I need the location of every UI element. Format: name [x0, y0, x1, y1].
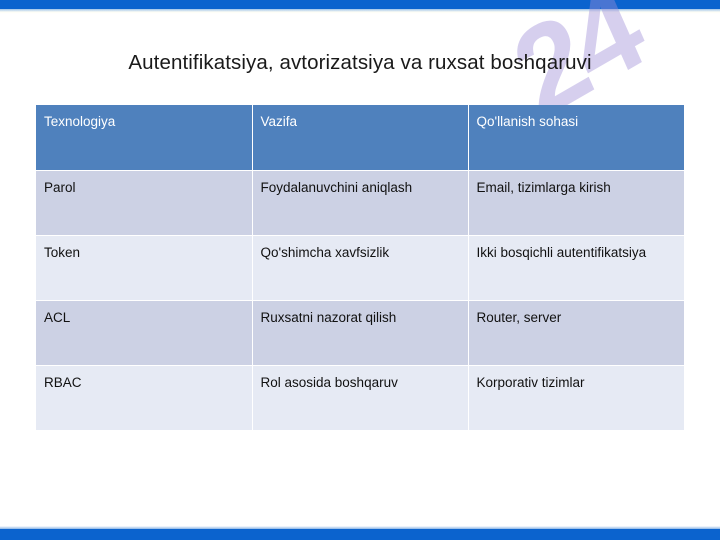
column-header-technology-label: Texnologiya — [44, 114, 244, 131]
cell-technology: Parol — [36, 170, 252, 235]
cell-technology: ACL — [36, 300, 252, 365]
cell-text: Korporativ tizimlar — [477, 375, 677, 392]
cell-technology: RBAC — [36, 365, 252, 430]
cell-text: Ruxsatni nazorat qilish — [261, 310, 460, 327]
top-accent-bar — [0, 0, 720, 9]
cell-scope: Router, server — [468, 300, 684, 365]
cell-scope: Korporativ tizimlar — [468, 365, 684, 430]
cell-scope: Email, tizimlarga kirish — [468, 170, 684, 235]
top-accent-fade — [0, 9, 720, 14]
cell-text: Qo'shimcha xavfsizlik — [261, 245, 460, 262]
cell-task: Rol asosida boshqaruv — [252, 365, 468, 430]
cell-task: Ruxsatni nazorat qilish — [252, 300, 468, 365]
table-row: RBAC Rol asosida boshqaruv Korporativ ti… — [36, 365, 684, 430]
cell-text: RBAC — [44, 375, 244, 392]
cell-scope: Ikki bosqichli autentifikatsiya — [468, 235, 684, 300]
column-header-scope: Qo'llanish sohasi — [468, 105, 684, 170]
table-row: Token Qo'shimcha xavfsizlik Ikki bosqich… — [36, 235, 684, 300]
cell-text: ACL — [44, 310, 244, 327]
column-header-scope-label: Qo'llanish sohasi — [477, 114, 677, 131]
cell-text: Token — [44, 245, 244, 262]
table-body: Parol Foydalanuvchini aniqlash Email, ti… — [36, 170, 684, 430]
cell-task: Qo'shimcha xavfsizlik — [252, 235, 468, 300]
cell-text: Router, server — [477, 310, 677, 327]
column-header-task: Vazifa — [252, 105, 468, 170]
content-table-wrapper: Texnologiya Vazifa Qo'llanish sohasi Par… — [36, 105, 684, 430]
table-header: Texnologiya Vazifa Qo'llanish sohasi — [36, 105, 684, 170]
cell-text: Rol asosida boshqaruv — [261, 375, 460, 392]
content-table: Texnologiya Vazifa Qo'llanish sohasi Par… — [36, 105, 684, 430]
column-header-technology: Texnologiya — [36, 105, 252, 170]
bottom-accent-bar — [0, 529, 720, 540]
cell-text: Ikki bosqichli autentifikatsiya — [477, 245, 677, 262]
cell-text: Email, tizimlarga kirish — [477, 180, 677, 197]
cell-text: Parol — [44, 180, 244, 197]
page-title: Autentifikatsiya, avtorizatsiya va ruxsa… — [0, 51, 720, 75]
table-row: Parol Foydalanuvchini aniqlash Email, ti… — [36, 170, 684, 235]
slide: 24 Hujjat Autentifikatsiya, avtorizatsiy… — [0, 0, 720, 540]
cell-task: Foydalanuvchini aniqlash — [252, 170, 468, 235]
cell-technology: Token — [36, 235, 252, 300]
table-row: ACL Ruxsatni nazorat qilish Router, serv… — [36, 300, 684, 365]
column-header-task-label: Vazifa — [261, 114, 460, 131]
cell-text: Foydalanuvchini aniqlash — [261, 180, 460, 197]
table-header-row: Texnologiya Vazifa Qo'llanish sohasi — [36, 105, 684, 170]
